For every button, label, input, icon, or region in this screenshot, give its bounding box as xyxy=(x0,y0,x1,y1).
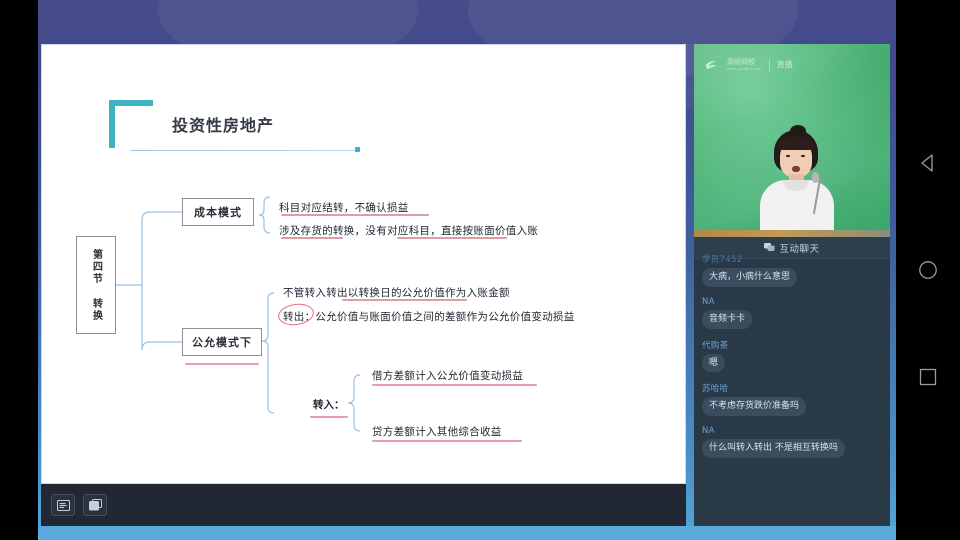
mindmap-node-fair-model[interactable]: 公允模式下 xyxy=(182,328,262,356)
microphone-icon xyxy=(812,172,819,183)
presenter xyxy=(750,130,842,237)
chat-message: NA什么叫转入转出 不是相互转换吗 xyxy=(702,426,882,462)
android-navigation-bar xyxy=(896,0,960,540)
chat-message: NA音频卡卡 xyxy=(702,297,882,333)
leaf-transfer-in-1: 借方差额计入公允价值变动损益 xyxy=(372,368,523,383)
annotation-underline-cost-2b xyxy=(397,237,507,239)
mindmap-node-cost-model[interactable]: 成本模式 xyxy=(182,198,254,226)
slide-board[interactable]: 投资性房地产 第四节 转换 成本模式 公允模式下 xyxy=(41,44,686,484)
mindmap-node-root[interactable]: 第四节 转换 xyxy=(76,236,116,334)
chat-pane[interactable]: 互动聊天 学员7452大病，小病什么意思NA音频卡卡代购茶嗯苏哈哈不考虑存货跌价… xyxy=(694,237,890,526)
annotation-underline-ti-1 xyxy=(372,384,537,386)
chat-username: 代购茶 xyxy=(702,339,882,351)
recents-icon[interactable] xyxy=(917,366,939,388)
chat-bubble[interactable]: 音频卡卡 xyxy=(702,310,752,329)
brand-logo-icon xyxy=(704,58,720,71)
leaf-fair-1: 不管转入转出以转换日的公允价值作为入账金额 xyxy=(283,285,510,300)
chat-bubble[interactable]: 什么叫转入转出 不是相互转换吗 xyxy=(702,439,845,458)
presenter-mouth xyxy=(792,166,800,172)
app-footer-strip xyxy=(38,526,896,540)
mindmap: 第四节 转换 成本模式 公允模式下 科目对应结转，不确认损益 涉及存货的转换，没… xyxy=(42,45,687,485)
video-desk-edge xyxy=(694,230,890,237)
watermark-divider xyxy=(769,59,770,71)
back-icon[interactable] xyxy=(917,152,939,174)
chat-message-list[interactable]: 学员7452大病，小病什么意思NA音频卡卡代购茶嗯苏哈哈不考虑存货跌价准备吗NA… xyxy=(694,259,890,526)
presenter-fringe xyxy=(778,137,814,150)
annotation-underline-fair-node xyxy=(185,363,259,365)
leaf-cost-2: 涉及存货的转换，没有对应科目，直接按账面价值入账 xyxy=(279,223,538,238)
mindmap-connectors xyxy=(42,45,687,485)
chat-message: 苏哈哈不考虑存货跌价准备吗 xyxy=(702,382,882,420)
home-icon[interactable] xyxy=(917,259,939,281)
chat-username: 苏哈哈 xyxy=(702,382,882,394)
leaf-cost-1: 科目对应结转，不确认损益 xyxy=(279,200,409,215)
chat-message: 代购茶嗯 xyxy=(702,339,882,377)
chat-message: 学员7452大病，小病什么意思 xyxy=(702,253,882,291)
chat-bubble[interactable]: 不考虑存货跌价准备吗 xyxy=(702,397,806,416)
leaf-fair-2: 转出：公允价值与账面价值之间的差额作为公允价值变动损益 xyxy=(283,309,575,324)
chat-bubble[interactable]: 嗯 xyxy=(702,354,725,373)
annotation-underline-fair-1 xyxy=(342,299,467,301)
leaf-transfer-in-2: 贷方差额计入其他综合收益 xyxy=(372,424,502,439)
annotation-underline-ti-2 xyxy=(372,440,522,442)
label-transfer-in: 转入： xyxy=(313,397,345,412)
chat-bubbles-icon xyxy=(764,243,775,252)
layers-icon[interactable] xyxy=(83,494,107,516)
video-pane[interactable]: 高顿网校 www.gaodun.com 直播 xyxy=(694,44,890,237)
annotation-underline-cost-1 xyxy=(281,214,429,216)
screen: 投资性房地产 第四节 转换 成本模式 公允模式下 xyxy=(0,0,960,540)
chat-username: 学员7452 xyxy=(702,253,882,265)
annotation-underline-cost-2a xyxy=(281,237,343,239)
app-header-band xyxy=(38,0,896,44)
chat-bubble[interactable]: 大病，小病什么意思 xyxy=(702,268,797,287)
notes-icon[interactable] xyxy=(51,494,75,516)
watermark-brand: 高顿网校 xyxy=(727,58,762,66)
watermark-live-badge: 直播 xyxy=(777,59,793,70)
annotation-underline-transfer-in xyxy=(310,416,348,418)
chat-username: NA xyxy=(702,297,882,307)
board-toolbar xyxy=(41,484,686,526)
video-watermark: 高顿网校 www.gaodun.com 直播 xyxy=(704,58,793,71)
chat-username: NA xyxy=(702,426,882,436)
watermark-subtext: www.gaodun.com xyxy=(727,67,762,71)
